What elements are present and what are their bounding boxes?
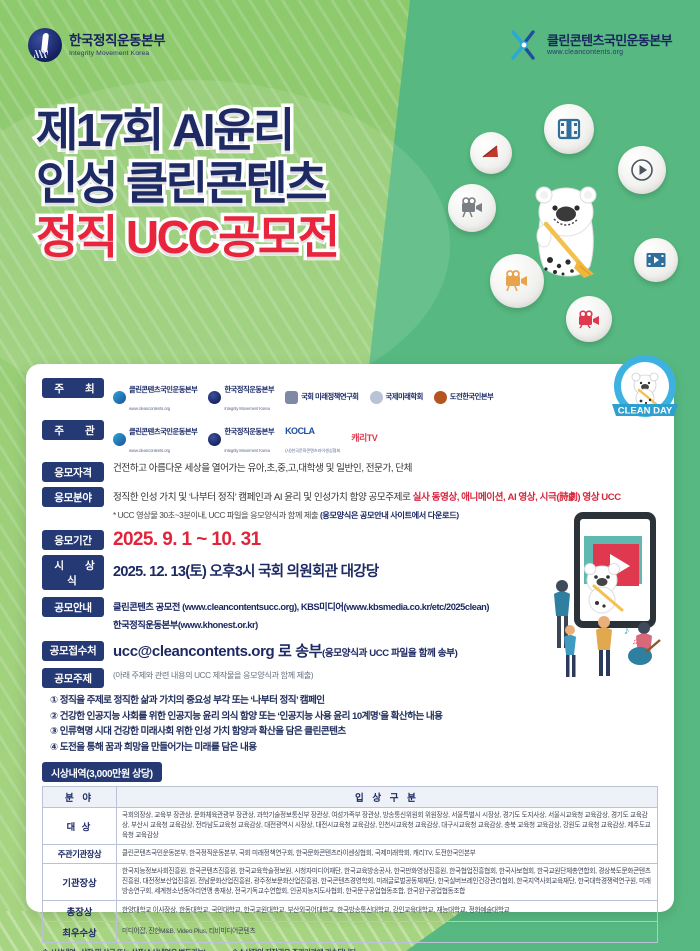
organizer-label: 주 관 — [42, 420, 104, 440]
awards-header-row: 분 야 입 상 구 분 — [43, 787, 658, 808]
awards-row-0-category: 대 상 — [43, 808, 117, 845]
awards-col-detail: 입 상 구 분 — [117, 787, 658, 808]
period-value: 2025. 9. 1 ~ 10. 31 — [113, 530, 261, 550]
info-line-1[interactable]: 클린콘텐츠 공모전 (www.cleancontentsucc.org), KB… — [113, 602, 489, 612]
theme-items: ① 정직을 주제로 정직한 삶과 가치의 중요성 부각 또는 ‘나부터 정직’ … — [50, 693, 658, 755]
play-circle-icon — [618, 146, 666, 194]
host-org-1-name: 한국정직운동본부 — [224, 385, 274, 394]
title-line-3: 정직 UCC공모전 — [36, 211, 338, 264]
category-note-pre: * UCC 영상물 30초~3분이내, UCC 파일을 응모양식과 함께 제출 — [113, 511, 320, 520]
clean-day-label: CLEAN DAY — [618, 406, 673, 417]
submission-email[interactable]: ucc@cleancontents.org — [113, 643, 274, 660]
camcorder-icon — [566, 296, 612, 342]
host-org-4-name: 도전한국인본부 — [450, 393, 494, 401]
theme-item-4: ④ 도전을 통해 꿈과 희망을 만들어가는 미래를 담은 내용 — [50, 740, 658, 756]
title-line-1: 제17회 AI윤리 — [36, 104, 338, 157]
clean-day-badge: CLEAN DAY — [608, 352, 682, 426]
table-row: 최우수상 미디어잡, 진현M&B, Video Plus, 티비미디어콘텐츠 — [43, 922, 658, 943]
category-text-pre: 정직한 인성 가치 및 ‘나부터 정직’ 캠페인과 AI 윤리 및 인성가치 함… — [113, 492, 413, 503]
awards-row-4-value: 미디어잡, 진현M&B, Video Plus, 티비미디어콘텐츠 — [117, 922, 658, 943]
cleancontents-mini-icon — [113, 391, 126, 404]
host-org-1: 한국정직운동본부 Integrity Movement Korea — [208, 379, 274, 415]
theme-item-2: ② 건강한 인공지능 사회를 위한 인공지능 윤리 의식 함양 또는 ‘인공지능… — [50, 709, 658, 725]
host-organizations: 클린콘텐츠국민운동본부 www.cleancontents.org 한국정직운동… — [113, 378, 493, 415]
poster-header: 한국정직운동본부 Integrity Movement Korea 클린콘텐츠국… — [0, 0, 700, 92]
integrity-logo-name-kr: 한국정직운동본부 — [69, 33, 165, 49]
organizer-org-2-name: KOCLA — [285, 426, 315, 436]
theme-item-3: ③ 인류혁명 시대 건강한 미래사회 위한 인성 가치 함양과 확산을 담은 클… — [50, 724, 658, 740]
theme-note: (아래 주제와 관련 내용의 UCC 제작물을 응모양식과 함께 제출) — [113, 668, 313, 682]
awards-row-3-category: 총장상 — [43, 901, 117, 922]
organizer-organizations: 클린콘텐츠국민운동본부 www.cleancontents.org 한국정직운동… — [113, 420, 377, 457]
assembly-mini-icon — [285, 391, 298, 404]
category-note-bold: (응모양식은 공모안내 사이트에서 다운로드) — [320, 511, 459, 520]
cleancontents-logo: 클린콘텐츠국민운동본부 www.cleancontents.org — [510, 30, 672, 60]
table-row: 주관기관장상 클린콘텐츠국민운동본부, 한국정직운동본부, 국회 미래정책연구회… — [43, 845, 658, 864]
svg-text:♪: ♪ — [624, 625, 630, 637]
media-icon-cluster — [448, 96, 698, 376]
awards-row-3-value: 한양대학교 이사장상, 한동대학교, 국민대학교, 한국교원대학교, 부산외국어… — [117, 901, 658, 922]
info-label: 공모안내 — [42, 597, 104, 617]
theme-item-1: ① 정직을 주제로 정직한 삶과 가치의 중요성 부각 또는 ‘나부터 정직’ … — [50, 693, 658, 709]
table-row: 기관장상 한국지능정보사회진흥원, 한국콘텐츠진흥원, 한국교육학술정보원, 시… — [43, 864, 658, 901]
organizer-org-3: 캐리TV — [351, 434, 377, 443]
movie-camera-icon — [448, 184, 496, 232]
organizer-row: 주 관 클린콘텐츠국민운동본부 www.cleancontents.org 한국… — [42, 420, 658, 457]
host-row: 주 최 클린콘텐츠국민운동본부 www.cleancontents.org 한국… — [42, 378, 658, 415]
awards-heading: 시상내역(3,000만원 상당) — [42, 762, 162, 782]
host-org-3: 국제미래학회 — [370, 391, 423, 404]
cleancontents-logo-url: www.cleancontents.org — [547, 49, 672, 56]
table-row: 총장상 한양대학교 이사장상, 한동대학교, 국민대학교, 한국교원대학교, 부… — [43, 901, 658, 922]
organizer-org-1-name: 한국정직운동본부 — [224, 427, 274, 436]
title-line-2: 인성 클린콘텐츠 — [36, 157, 338, 210]
table-row: 대 상 국회의장상, 교육부 장관상, 문화체육관광부 장관상, 과학기술정보통… — [43, 808, 658, 845]
awards-col-category: 분 야 — [43, 787, 117, 808]
awards-row-2-category: 기관장상 — [43, 864, 117, 901]
ceremony-label: 시 상 식 — [42, 555, 104, 590]
video-player-icon — [634, 238, 678, 282]
period-label: 응모기간 — [42, 530, 104, 550]
eligibility-text: 건전하고 아름다운 세상을 열어가는 유아,초,중,고,대학생 및 일반인, 전… — [113, 462, 412, 476]
awards-row-0-value: 국회의장상, 교육부 장관상, 문화체육관광부 장관상, 과학기술정보통신부 장… — [117, 808, 658, 845]
awards-table: 분 야 입 상 구 분 대 상 국회의장상, 교육부 장관상, 문화체육관광부 … — [42, 786, 658, 943]
theme-label: 공모주제 — [42, 668, 104, 688]
organizer-org-1-sub: Integrity Movement Korea — [224, 448, 270, 453]
organizer-org-1: 한국정직운동본부 Integrity Movement Korea — [208, 421, 274, 457]
organizer-org-2: KOCLA (사)한국문화콘텐츠라이센싱협회 — [285, 421, 340, 457]
submission-suffix: 로 송부 — [274, 643, 322, 660]
host-org-1-sub: Integrity Movement Korea — [224, 406, 270, 411]
poster-title: 제17회 AI윤리 인성 클린콘텐츠 정직 UCC공모전 — [36, 104, 338, 264]
category-label: 응모분야 — [42, 487, 104, 507]
submission-label: 공모접수처 — [42, 641, 104, 661]
film-strip-icon — [544, 104, 594, 154]
eligibility-label: 응모자격 — [42, 462, 104, 482]
host-org-0-sub: www.cleancontents.org — [129, 406, 170, 411]
host-org-4: 도전한국인본부 — [434, 391, 494, 404]
host-label: 주 최 — [42, 378, 104, 398]
tablet-video-illustration: ♪ ♫ — [518, 510, 686, 680]
awards-row-2-value: 한국지능정보사회진흥원, 한국콘텐츠진흥원, 한국교육학술정보원, 시청자미디어… — [117, 864, 658, 901]
megaphone-icon — [470, 132, 512, 174]
polar-bear-mascot — [524, 174, 604, 282]
eligibility-row: 응모자격 건전하고 아름다운 세상을 열어가는 유아,초,중,고,대학생 및 일… — [42, 462, 658, 482]
integrity-movement-logo: 한국정직운동본부 Integrity Movement Korea — [28, 28, 165, 62]
host-org-3-name: 국제미래학회 — [386, 393, 423, 401]
organizer-org-0: 클린콘텐츠국민운동본부 www.cleancontents.org — [113, 421, 197, 457]
awards-row-4-category: 최우수상 — [43, 922, 117, 943]
category-text-bold: 실사 동영상, 애니메이션, AI 영상, 시극(詩劇) 영상 UCC — [413, 492, 621, 503]
futures-mini-icon — [370, 391, 383, 404]
integrity-mini-icon-2 — [208, 433, 221, 446]
submission-paren: (응모양식과 UCC 파일을 함께 송부) — [322, 648, 457, 659]
organizer-org-0-sub: www.cleancontents.org — [129, 448, 170, 453]
host-org-0-name: 클린콘텐츠국민운동본부 — [129, 385, 197, 394]
integrity-logo-name-en: Integrity Movement Korea — [69, 50, 165, 57]
host-org-2-name: 국회 미래정책연구회 — [301, 393, 358, 401]
integrity-mini-icon — [208, 391, 221, 404]
svg-text:♫: ♫ — [632, 637, 638, 646]
awards-row-1-category: 주관기관장상 — [43, 845, 117, 864]
ceremony-value: 2025. 12. 13(토) 오후3시 국회 의원회관 대강당 — [113, 565, 378, 581]
info-line-2[interactable]: 한국정직운동본부(www.khonest.or.kr) — [113, 620, 258, 630]
integrity-logo-icon — [28, 28, 62, 62]
cleancontents-logo-icon — [510, 30, 542, 60]
host-org-2: 국회 미래정책연구회 — [285, 391, 358, 404]
organizer-org-3-name: 캐리TV — [351, 434, 377, 443]
cleancontents-logo-name: 클린콘텐츠국민운동본부 — [547, 34, 672, 48]
awards-row-1-value: 클린콘텐츠국민운동본부, 한국정직운동본부, 국회 미래정책연구회, 한국문화콘… — [117, 845, 658, 864]
organizer-org-0-name: 클린콘텐츠국민운동본부 — [129, 427, 197, 436]
organizer-org-2-sub: (사)한국문화콘텐츠라이센싱협회 — [285, 448, 340, 453]
host-org-0: 클린콘텐츠국민운동본부 www.cleancontents.org — [113, 379, 197, 415]
cleancontents-mini-icon-2 — [113, 433, 126, 446]
challenge-mini-icon — [434, 391, 447, 404]
